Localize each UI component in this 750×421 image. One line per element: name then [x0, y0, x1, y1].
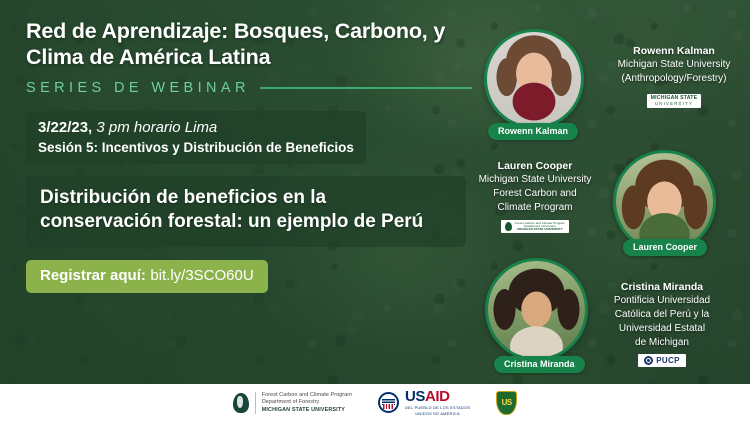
speaker-photo-lauren-cooper [613, 150, 716, 253]
footer-msu-line1: Forest Carbon and Climate Program [262, 392, 352, 399]
portrait-image [616, 153, 713, 250]
footer-usfs-logo: US [496, 391, 517, 415]
date-value: 3/22/23, [38, 119, 92, 136]
time-value: 3 pm horario Lima [96, 119, 217, 136]
speaker-bio-lauren-cooper: Lauren Cooper Michigan State University … [462, 159, 608, 236]
spartan-helmet-icon [505, 222, 512, 231]
topic-title: Distribución de beneficios en la conserv… [40, 186, 452, 235]
register-label: Registrar aquí: [40, 267, 146, 284]
topic-box: Distribución de beneficios en la conserv… [26, 176, 466, 247]
usaid-tagline: DEL PUEBLO DE LOS ESTADOS UNIDOS DE AMÉR… [405, 405, 470, 416]
usaid-tagline-line2: UNIDOS DE AMÉRICA [405, 411, 470, 416]
forest-carbon-climate-program-logo: Forest Carbon and Climate Program Depart… [501, 220, 569, 234]
bio-affiliation-line: Católica del Perú y la [588, 308, 736, 322]
register-button[interactable]: Registrar aquí: bit.ly/3SCO60U [26, 260, 268, 293]
footer-msu-line3: MICHIGAN STATE UNIVERSITY [262, 407, 352, 414]
pucp-logo-label: PUCP [656, 356, 679, 365]
footer-msu-logo: Forest Carbon and Climate Program Depart… [233, 392, 352, 414]
michigan-state-university-logo: MICHIGAN STATE UNIVERSITY [647, 94, 702, 108]
usaid-word-us: US [405, 388, 425, 405]
footer-usaid-logo: USAID DEL PUEBLO DE LOS ESTADOS UNIDOS D… [378, 389, 470, 416]
usfs-label: US [502, 399, 512, 407]
subtitle-rule [260, 87, 472, 89]
speaker-chip-cristina-miranda: Cristina Miranda [494, 356, 585, 373]
bio-name: Rowenn Kalman [600, 44, 748, 58]
speaker-bio-rowenn-kalman: Rowenn Kalman Michigan State University … [600, 44, 748, 108]
date-session-box: 3/22/23, 3 pm horario Lima Sesión 5: Inc… [26, 111, 366, 164]
speaker-chip-rowenn-kalman: Rowenn Kalman [488, 123, 578, 140]
page-title: Red de Aprendizaje: Bosques, Carbono, y … [26, 18, 478, 71]
webinar-poster: Red de Aprendizaje: Bosques, Carbono, y … [0, 0, 750, 421]
bio-name: Lauren Cooper [462, 159, 608, 173]
bio-affiliation-line: Pontificia Universidad [588, 294, 736, 308]
bio-affiliation-line: Universidad Estatal [588, 322, 736, 336]
bio-affiliation-line: Forest Carbon and [462, 187, 608, 201]
fccp-logo-line3: MICHIGAN STATE UNIVERSITY [515, 228, 565, 231]
usaid-wordmark: USAID [405, 389, 470, 404]
usaid-word-aid: AID [425, 388, 450, 405]
subtitle-row: SERIES DE WEBINAR [26, 80, 478, 96]
bio-affiliation-line: Michigan State University [462, 173, 608, 187]
us-forest-service-shield-icon: US [496, 391, 517, 415]
portrait-image [487, 32, 581, 126]
speaker-photo-rowenn-kalman [484, 29, 584, 129]
spartan-helmet-icon [233, 393, 249, 413]
speaker-bio-cristina-miranda: Cristina Miranda Pontificia Universidad … [588, 280, 736, 370]
msu-logo-line2: UNIVERSITY [655, 102, 693, 106]
pucp-seal-icon [644, 356, 653, 365]
logo-divider [255, 392, 256, 414]
date-line: 3/22/23, 3 pm horario Lima [38, 119, 354, 136]
bio-affiliation-line: (Anthropology/Forestry) [600, 72, 748, 86]
bio-affiliation-line: Michigan State University [600, 58, 748, 72]
speaker-chip-lauren-cooper: Lauren Cooper [623, 239, 707, 256]
portrait-image [488, 261, 585, 358]
footer-msu-text: Forest Carbon and Climate Program Depart… [262, 392, 352, 414]
usaid-tagline-line1: DEL PUEBLO DE LOS ESTADOS [405, 405, 470, 410]
pucp-logo: PUCP [638, 354, 685, 367]
bio-affiliation-line: Climate Program [462, 201, 608, 215]
speaker-photo-cristina-miranda [485, 258, 588, 361]
usaid-seal-icon [378, 392, 399, 413]
bio-affiliation-line: de Michigan [588, 336, 736, 350]
bio-name: Cristina Miranda [588, 280, 736, 294]
series-subtitle: SERIES DE WEBINAR [26, 80, 250, 96]
fccp-logo-text: Forest Carbon and Climate Program Depart… [515, 222, 565, 232]
session-line: Sesión 5: Incentivos y Distribución de B… [38, 140, 354, 155]
register-url[interactable]: bit.ly/3SCO60U [150, 267, 253, 284]
left-content-column: Red de Aprendizaje: Bosques, Carbono, y … [26, 18, 478, 293]
usaid-text: USAID DEL PUEBLO DE LOS ESTADOS UNIDOS D… [405, 389, 470, 416]
footer-logo-bar: Forest Carbon and Climate Program Depart… [0, 384, 750, 421]
footer-msu-line2: Department of Forestry [262, 399, 352, 406]
